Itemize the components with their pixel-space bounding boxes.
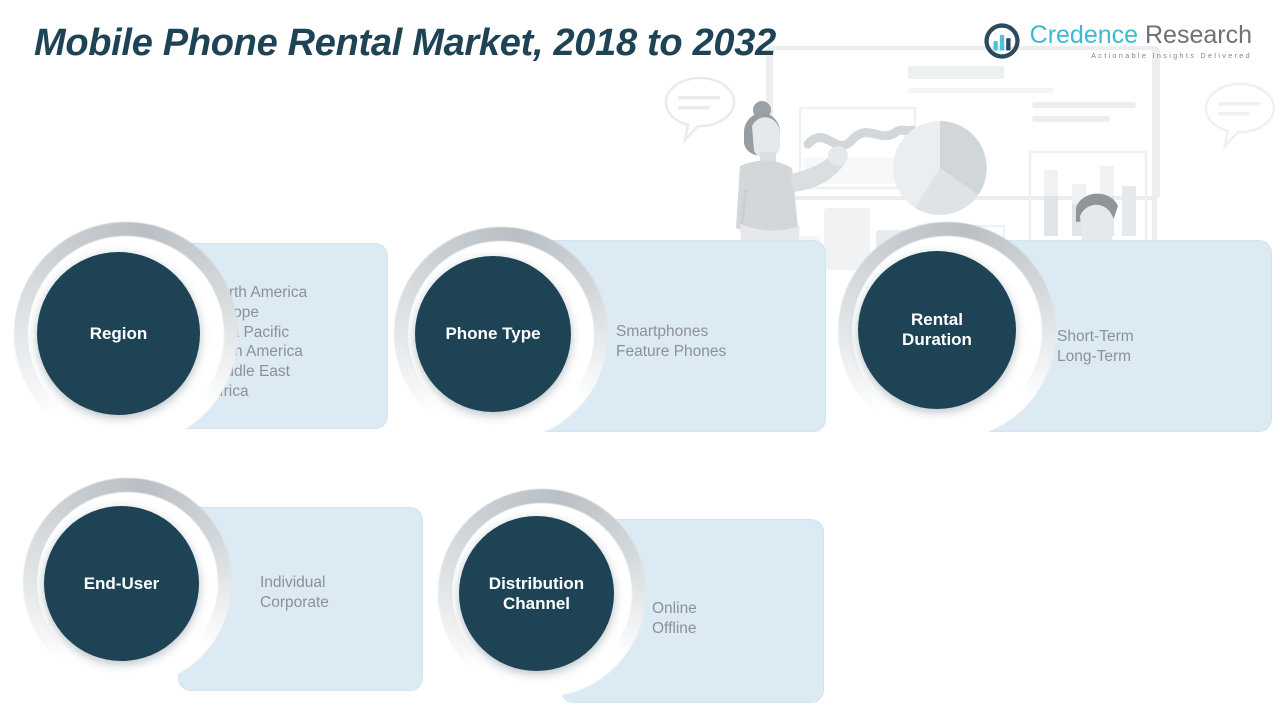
brand-name-secondary: Research [1138,21,1252,49]
segment-bubble-end-user[interactable]: End-User [44,506,199,661]
brand-wordmark: Credence Research [1030,23,1252,48]
segment-label-end-user: End-User [84,574,160,594]
brand-tagline: Actionable Insights Delivered [1030,52,1252,59]
list-item: Corporate [260,593,329,613]
slide-canvas: Mobile Phone Rental Market, 2018 to 2032… [0,0,1280,720]
list-item: Feature Phones [616,342,726,362]
speech-bubble-left [666,78,734,140]
segment-label-region: Region [90,324,148,344]
segment-items-rental-duration: Short-Term Long-Term [1057,327,1134,367]
segment-bubble-phone-type[interactable]: Phone Type [415,256,571,412]
segment-label-line: Channel [503,594,570,613]
segment-label-line: Distribution [489,574,584,593]
list-item: Short-Term [1057,327,1134,347]
segment-label-rental-duration: Rental Duration [902,310,972,349]
segment-bubble-region[interactable]: Region [37,252,200,415]
list-item: Offline [652,619,697,639]
list-item: Online [652,599,697,619]
segment-items-end-user: Individual Corporate [260,573,329,613]
segment-bubble-distribution-channel[interactable]: Distribution Channel [459,516,614,671]
segment-bubble-rental-duration[interactable]: Rental Duration [858,251,1016,409]
brand-name-primary: Credence [1030,21,1138,49]
credence-bar-chart-circle-icon [983,22,1021,60]
list-item: Individual [260,573,329,593]
list-item: Long-Term [1057,347,1134,367]
segment-items-phone-type: Smartphones Feature Phones [616,322,726,362]
page-title: Mobile Phone Rental Market, 2018 to 2032 [34,22,776,65]
segment-label-line: Rental [911,310,963,329]
segment-label-line: Duration [902,330,972,349]
segment-items-distribution-channel: Online Offline [652,599,697,639]
segment-label-distribution-channel: Distribution Channel [489,574,584,613]
list-item: Smartphones [616,322,726,342]
speech-bubble-right [1206,84,1274,146]
segment-label-phone-type: Phone Type [445,324,540,344]
brand-logo[interactable]: Credence Research Actionable Insights De… [983,22,1252,60]
